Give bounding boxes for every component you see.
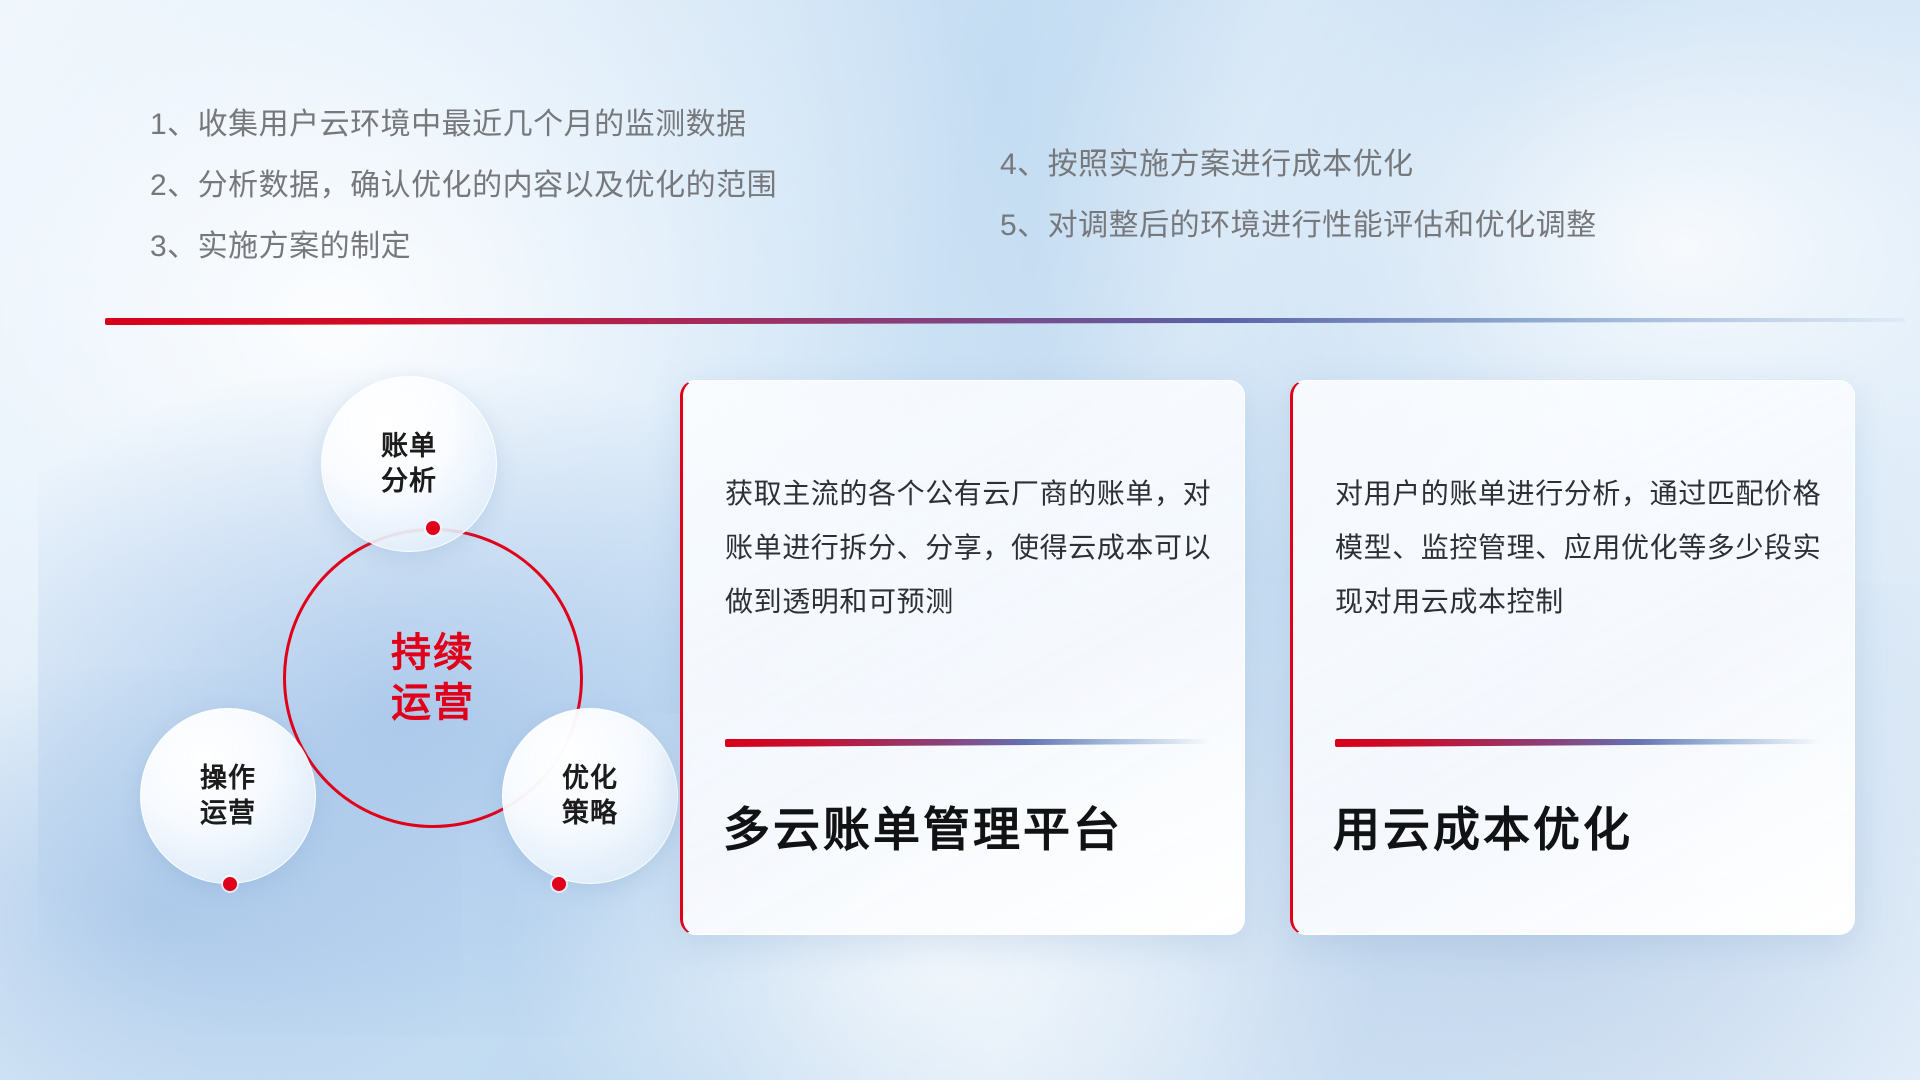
node-label-line-2: 分析 <box>381 464 437 499</box>
card-title: 用云成本优化 <box>1333 791 1633 860</box>
node-label-line-1: 操作 <box>200 761 256 796</box>
node-label-line-1: 优化 <box>562 761 618 796</box>
card-divider <box>725 739 1211 747</box>
node-label-line-2: 策略 <box>562 796 618 831</box>
step-item-2: 2、分析数据，确认优化的内容以及优化的范围 <box>150 171 777 201</box>
node-label-line-2: 运营 <box>200 796 256 831</box>
connector-dot-top <box>426 521 440 535</box>
steps-right-column: 4、按照实施方案进行成本优化 5、对调整后的环境进行性能评估和优化调整 <box>1000 150 1597 272</box>
info-card-multicloud-billing[interactable]: 获取主流的各个公有云厂商的账单，对账单进行拆分、分享，使得云成本可以做到透明和可… <box>680 380 1245 935</box>
diagram-node-operations[interactable]: 操作 运营 <box>140 708 316 884</box>
card-body-text: 对用户的账单进行分析，通过匹配价格模型、监控管理、应用优化等多少段实现对用云成本… <box>1335 467 1824 628</box>
venn-diagram: 持续 运营 账单 分析 操作 运营 优化 策略 <box>90 350 650 950</box>
step-item-5: 5、对调整后的环境进行性能评估和优化调整 <box>1000 211 1597 241</box>
step-item-4: 4、按照实施方案进行成本优化 <box>1000 150 1597 180</box>
diagram-node-billing-analysis[interactable]: 账单 分析 <box>321 376 497 552</box>
step-item-1: 1、收集用户云环境中最近几个月的监测数据 <box>150 110 777 140</box>
diagram-node-optimization-strategy[interactable]: 优化 策略 <box>502 708 678 884</box>
connector-dot-bottom-left <box>223 877 237 891</box>
center-label-line-1: 持续 <box>391 628 475 678</box>
node-label-line-1: 账单 <box>381 429 437 464</box>
center-label-line-2: 运营 <box>391 678 475 728</box>
info-card-cloud-cost-optimization[interactable]: 对用户的账单进行分析，通过匹配价格模型、监控管理、应用优化等多少段实现对用云成本… <box>1290 380 1855 935</box>
connector-dot-bottom-right <box>552 877 566 891</box>
card-divider <box>1335 739 1821 747</box>
steps-left-column: 1、收集用户云环境中最近几个月的监测数据 2、分析数据，确认优化的内容以及优化的… <box>150 110 777 293</box>
step-item-3: 3、实施方案的制定 <box>150 232 777 262</box>
process-steps: 1、收集用户云环境中最近几个月的监测数据 2、分析数据，确认优化的内容以及优化的… <box>0 0 1920 300</box>
card-body-text: 获取主流的各个公有云厂商的账单，对账单进行拆分、分享，使得云成本可以做到透明和可… <box>725 467 1214 628</box>
card-title: 多云账单管理平台 <box>723 791 1123 860</box>
